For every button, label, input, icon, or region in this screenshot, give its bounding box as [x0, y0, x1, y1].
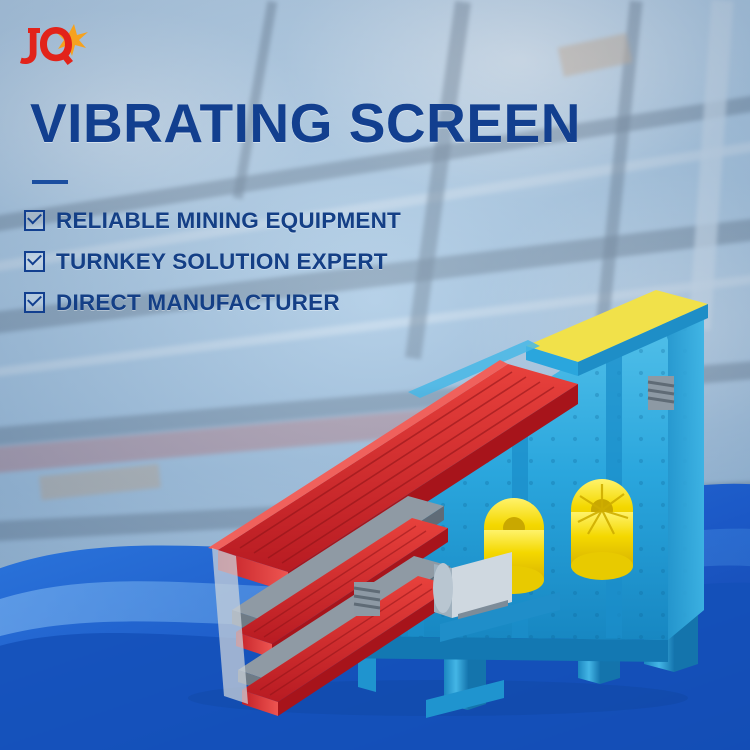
exciter-right	[571, 479, 633, 580]
checkbox-check-icon	[24, 210, 45, 231]
bullet-label: TURNKEY SOLUTION EXPERT	[56, 249, 388, 275]
page-title: VIBRATING SCREEN	[30, 96, 581, 151]
list-item: TURNKEY SOLUTION EXPERT	[24, 241, 454, 282]
checkbox-check-icon	[24, 292, 45, 313]
vibrating-screen-machine	[108, 280, 748, 720]
checkbox-check-icon	[24, 251, 45, 272]
jxsc-star-logo	[18, 22, 90, 78]
title-underline-rule	[32, 180, 68, 184]
banner-image: VIBRATING SCREEN RELIABLE MINING EQUIPME…	[0, 0, 750, 750]
bullet-label: RELIABLE MINING EQUIPMENT	[56, 208, 401, 234]
list-item: RELIABLE MINING EQUIPMENT	[24, 200, 454, 241]
logo-letters	[20, 27, 73, 65]
